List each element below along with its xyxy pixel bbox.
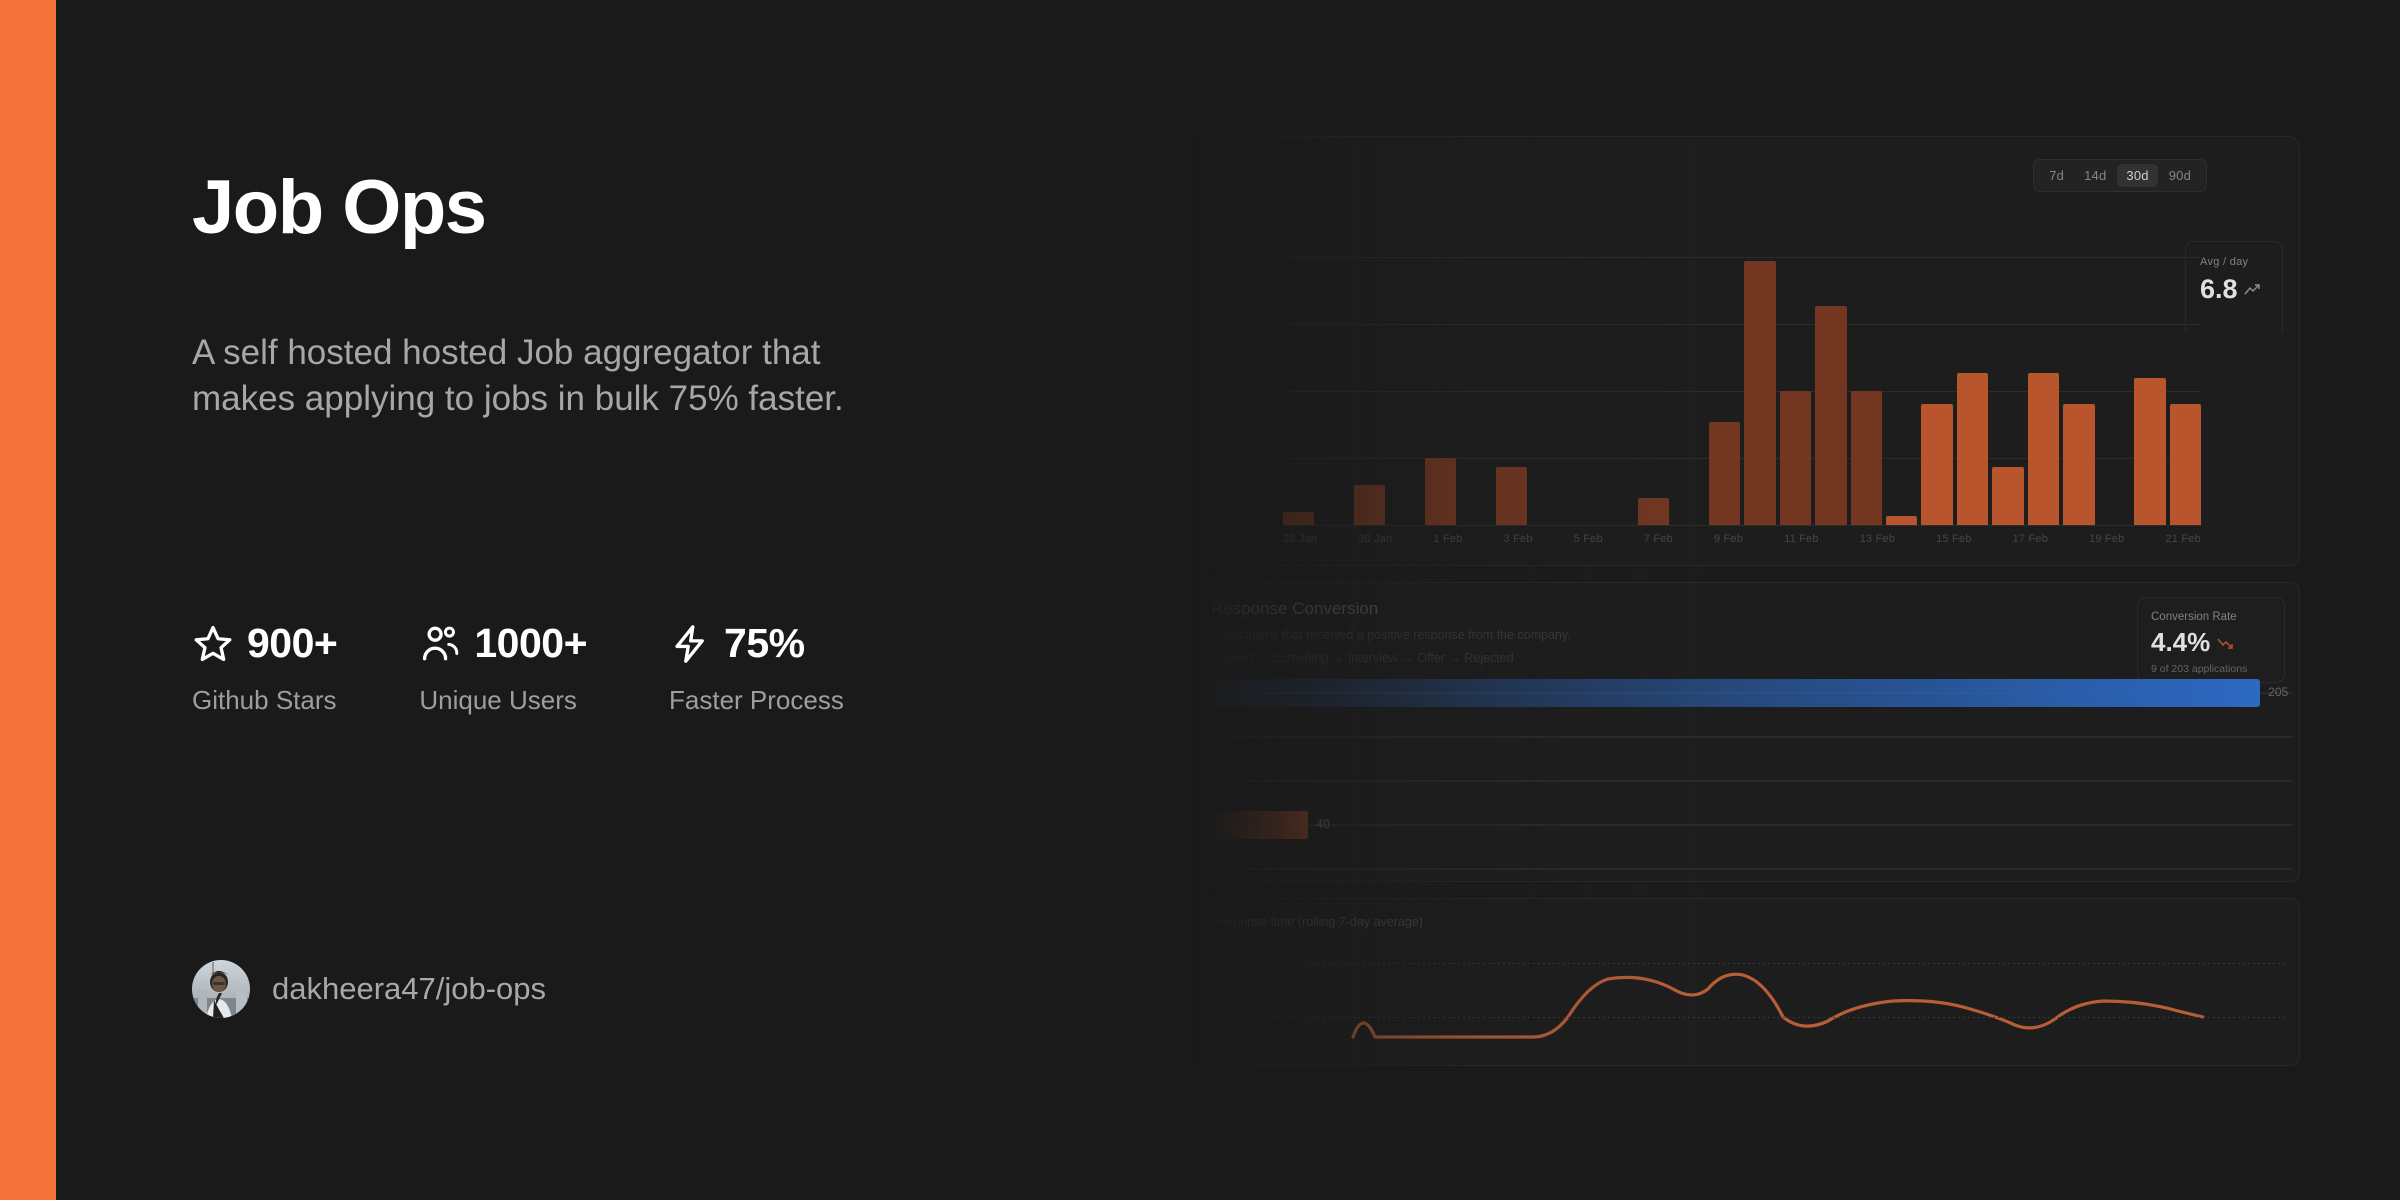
- stat-faster-process: 75% Faster Process: [669, 620, 844, 716]
- bar: [2063, 404, 2094, 525]
- stat-value-github-stars: 900+: [247, 620, 337, 667]
- avatar: [192, 960, 250, 1018]
- bar: [1283, 512, 1314, 525]
- bar: [1496, 467, 1527, 525]
- dashboard-preview-image: 7d 14d 30d 90d Avg / day 6.8: [1190, 136, 2300, 1066]
- conversion-rate-value-row: 4.4%: [2151, 627, 2284, 658]
- repo-name[interactable]: dakheera47/job-ops: [272, 971, 546, 1007]
- response-conversion-panel: Response Conversion Applications that re…: [1190, 582, 2300, 882]
- bar: [1744, 261, 1775, 525]
- bar: [1992, 467, 2023, 525]
- bar: [1638, 498, 1669, 525]
- range-pill-7d[interactable]: 7d: [2040, 164, 2073, 187]
- avg-per-day-label: Avg / day: [2200, 256, 2282, 268]
- bar: [1886, 516, 1917, 525]
- x-axis-tick: 7 Feb: [1644, 533, 1673, 545]
- x-axis-tick: 15 Feb: [1936, 533, 1971, 545]
- range-pill-14d[interactable]: 14d: [2075, 164, 2115, 187]
- bar: [2134, 378, 2165, 525]
- page-title: Job Ops: [192, 170, 486, 246]
- subtitle-line-2: makes applying to jobs in bulk 75% faste…: [192, 376, 844, 422]
- avatar-photo: [192, 960, 250, 1018]
- repo-footer[interactable]: dakheera47/job-ops: [192, 960, 546, 1018]
- bar: [2170, 404, 2201, 525]
- hero-content: Job Ops A self hosted hosted Job aggrega…: [192, 0, 1192, 1200]
- lightning-icon: [669, 623, 711, 665]
- sparkline-title: Response time (rolling 7-day average): [1211, 915, 1423, 929]
- conversion-rate-value: 4.4%: [2151, 627, 2210, 658]
- x-axis-tick: 3 Feb: [1504, 533, 1533, 545]
- bar-series: [1283, 257, 2201, 525]
- funnel-value: 205: [2268, 685, 2288, 699]
- sparkline-chart: [1203, 945, 2289, 1049]
- gridline: [1283, 525, 2201, 526]
- funnel-track: [1199, 824, 2293, 826]
- funnel-row: [1199, 855, 2293, 885]
- bar: [1709, 422, 1740, 525]
- bar: [1851, 391, 1882, 525]
- conversion-rate-label: Conversion Rate: [2151, 611, 2284, 623]
- response-time-panel: Response time (rolling 7-day average): [1190, 898, 2300, 1066]
- stat-label-unique-users: Unique Users: [419, 685, 587, 716]
- trend-down-icon: [2217, 637, 2233, 649]
- funnel-value: 40: [1316, 817, 1329, 831]
- x-axis-tick-labels: 28 Jan30 Jan1 Feb3 Feb5 Feb7 Feb9 Feb11 …: [1283, 533, 2201, 545]
- funnel-bar: [1199, 811, 1308, 839]
- funnel-bar: [1199, 679, 2260, 707]
- bar: [1425, 458, 1456, 525]
- bar: [1354, 485, 1385, 525]
- bar: [1957, 373, 1988, 525]
- funnel-row: [1199, 767, 2293, 797]
- funnel-legend: Applied → Screening → Interview → Offer …: [1211, 651, 1514, 665]
- conversion-rate-sub: 9 of 203 applications: [2151, 663, 2284, 675]
- stat-unique-users: 1000+ Unique Users: [419, 620, 587, 716]
- x-axis-tick: 5 Feb: [1574, 533, 1603, 545]
- stat-label-faster-process: Faster Process: [669, 685, 844, 716]
- range-pill-90d[interactable]: 90d: [2160, 164, 2200, 187]
- avg-per-day-value-row: 6.8: [2200, 274, 2282, 305]
- bar-chart-plot: [1283, 257, 2201, 525]
- x-axis-tick: 11 Feb: [1784, 533, 1819, 545]
- applications-chart-panel: 7d 14d 30d 90d Avg / day 6.8: [1190, 136, 2300, 566]
- bar: [1815, 306, 1846, 525]
- bar: [1921, 404, 1952, 525]
- bar: [1780, 391, 1811, 525]
- star-icon: [192, 623, 234, 665]
- x-axis-tick: 30 Jan: [1358, 533, 1392, 545]
- gridline: [1203, 963, 2289, 964]
- page-subtitle: A self hosted hosted Job aggregator that…: [192, 330, 844, 422]
- funnel-row: 40: [1199, 811, 2293, 841]
- users-icon: [419, 623, 461, 665]
- bar: [2028, 373, 2059, 525]
- x-axis-tick: 9 Feb: [1714, 533, 1743, 545]
- stat-value-unique-users: 1000+: [474, 620, 587, 667]
- funnel-description: Applications that received a positive re…: [1211, 628, 1571, 642]
- stat-value-faster-process: 75%: [724, 620, 805, 667]
- funnel-row: 205: [1199, 679, 2293, 709]
- x-axis-tick: 13 Feb: [1860, 533, 1895, 545]
- accent-stripe: [0, 0, 56, 1200]
- subtitle-line-1: A self hosted hosted Job aggregator that: [192, 330, 844, 376]
- funnel-heading-group: Response Conversion Applications that re…: [1211, 599, 1571, 642]
- funnel-rows: 20540: [1199, 679, 2293, 899]
- funnel-track: [1199, 736, 2293, 738]
- funnel-heading: Response Conversion: [1211, 599, 1571, 619]
- funnel-track: [1199, 780, 2293, 782]
- gridline: [1203, 1017, 2289, 1018]
- stat-github-stars: 900+ Github Stars: [192, 620, 337, 716]
- funnel-track: [1199, 868, 2293, 870]
- trend-up-icon: [2244, 284, 2260, 296]
- range-pill-30d[interactable]: 30d: [2117, 164, 2157, 187]
- conversion-rate-card: Conversion Rate 4.4% 9 of 203 applicatio…: [2137, 597, 2285, 683]
- x-axis-tick: 1 Feb: [1433, 533, 1462, 545]
- stat-label-github-stars: Github Stars: [192, 685, 337, 716]
- x-axis-tick: 17 Feb: [2013, 533, 2048, 545]
- time-range-toggle[interactable]: 7d 14d 30d 90d: [2033, 159, 2207, 192]
- funnel-row: [1199, 723, 2293, 753]
- avg-per-day-value: 6.8: [2200, 274, 2238, 305]
- x-axis-tick: 21 Feb: [2165, 533, 2200, 545]
- stats-row: 900+ Github Stars 1000+ Unique Users: [192, 620, 926, 716]
- x-axis-tick: 28 Jan: [1283, 533, 1317, 545]
- x-axis-tick: 19 Feb: [2089, 533, 2124, 545]
- sparkline-path: [1203, 945, 2289, 1049]
